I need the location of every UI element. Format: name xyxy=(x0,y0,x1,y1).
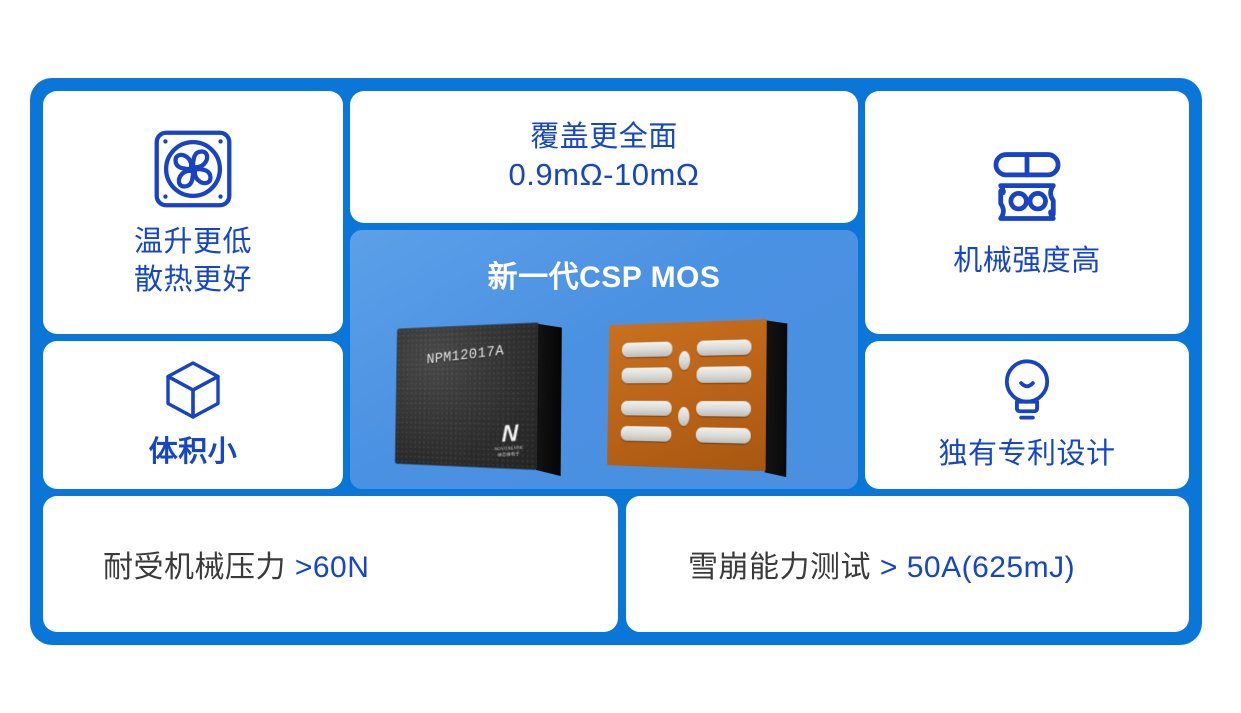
feature-card-thermal[interactable]: 温升更低 散热更好 xyxy=(43,91,343,334)
lightbulb-icon xyxy=(997,356,1057,424)
cube-icon xyxy=(161,358,225,422)
stat-pressure: 耐受机械压力 >60N xyxy=(43,542,618,586)
feature-label-strength: 机械强度高 xyxy=(953,243,1101,280)
stat-avalanche-label: 雪崩能力测试 xyxy=(688,551,880,584)
compression-press-icon xyxy=(984,145,1070,231)
infographic-root: 温升更低 散热更好 体积小 覆盖更全面 0.9mΩ-10mΩ 新一代CSP MO… xyxy=(0,0,1241,713)
pcb-pad xyxy=(622,341,672,357)
pcb-pad xyxy=(697,339,751,356)
pcb-pad-group xyxy=(607,319,767,471)
black-chip-side xyxy=(536,324,562,476)
feature-label-thermal: 温升更低 散热更好 xyxy=(134,224,252,298)
feature-card-patent[interactable]: 独有专利设计 xyxy=(865,341,1189,489)
pcb-pad xyxy=(697,366,751,382)
pcb-pad xyxy=(696,427,751,444)
product-orange-pcb xyxy=(607,319,767,471)
novosense-logo-glyph: Ν xyxy=(495,421,524,447)
pcb-pad xyxy=(622,367,672,383)
novosense-logo-sub-en: NOVOSENSE xyxy=(495,446,524,453)
center-product-panel[interactable]: 新一代CSP MOS NPM12017A Ν NOVOSENSE 纳芯微电子 xyxy=(350,230,858,489)
outer-blue-frame: 温升更低 散热更好 体积小 覆盖更全面 0.9mΩ-10mΩ 新一代CSP MO… xyxy=(30,78,1202,645)
product-render-stage: NPM12017A Ν NOVOSENSE 纳芯微电子 xyxy=(350,278,858,489)
pcb-center-oval-pad xyxy=(679,351,690,370)
stat-card-avalanche[interactable]: 雪崩能力测试 > 50A(625mJ) xyxy=(626,496,1189,632)
feature-label-patent: 独有专利设计 xyxy=(938,436,1115,473)
novosense-logo: Ν NOVOSENSE 纳芯微电子 xyxy=(494,421,523,459)
novosense-logo-sub-cn: 纳芯微电子 xyxy=(494,452,523,459)
black-chip-face: NPM12017A Ν NOVOSENSE 纳芯微电子 xyxy=(395,323,538,469)
black-chip-part-number: NPM12017A xyxy=(397,339,538,372)
stat-avalanche: 雪崩能力测试 > 50A(625mJ) xyxy=(626,542,1189,586)
stat-card-pressure[interactable]: 耐受机械压力 >60N xyxy=(43,496,618,632)
pcb-pad xyxy=(696,401,750,417)
orange-pcb-side xyxy=(765,320,788,477)
stat-pressure-value: >60N xyxy=(295,551,370,584)
feature-card-coverage[interactable]: 覆盖更全面 0.9mΩ-10mΩ xyxy=(350,91,858,223)
pcb-center-oval-pad xyxy=(678,407,689,426)
pcb-pad xyxy=(621,401,671,416)
stat-pressure-label: 耐受机械压力 xyxy=(103,551,295,584)
orange-pcb-face xyxy=(607,319,767,471)
coverage-title: 覆盖更全面 xyxy=(530,119,678,157)
feature-card-size[interactable]: 体积小 xyxy=(43,341,343,489)
feature-card-strength[interactable]: 机械强度高 xyxy=(865,91,1189,334)
stat-avalanche-value: > 50A(625mJ) xyxy=(880,551,1075,584)
product-black-chip: NPM12017A Ν NOVOSENSE 纳芯微电子 xyxy=(395,323,538,469)
pcb-pad xyxy=(621,426,671,442)
coverage-subtitle: 0.9mΩ-10mΩ xyxy=(509,156,700,195)
feature-label-size: 体积小 xyxy=(149,434,238,471)
fan-icon xyxy=(150,126,236,212)
